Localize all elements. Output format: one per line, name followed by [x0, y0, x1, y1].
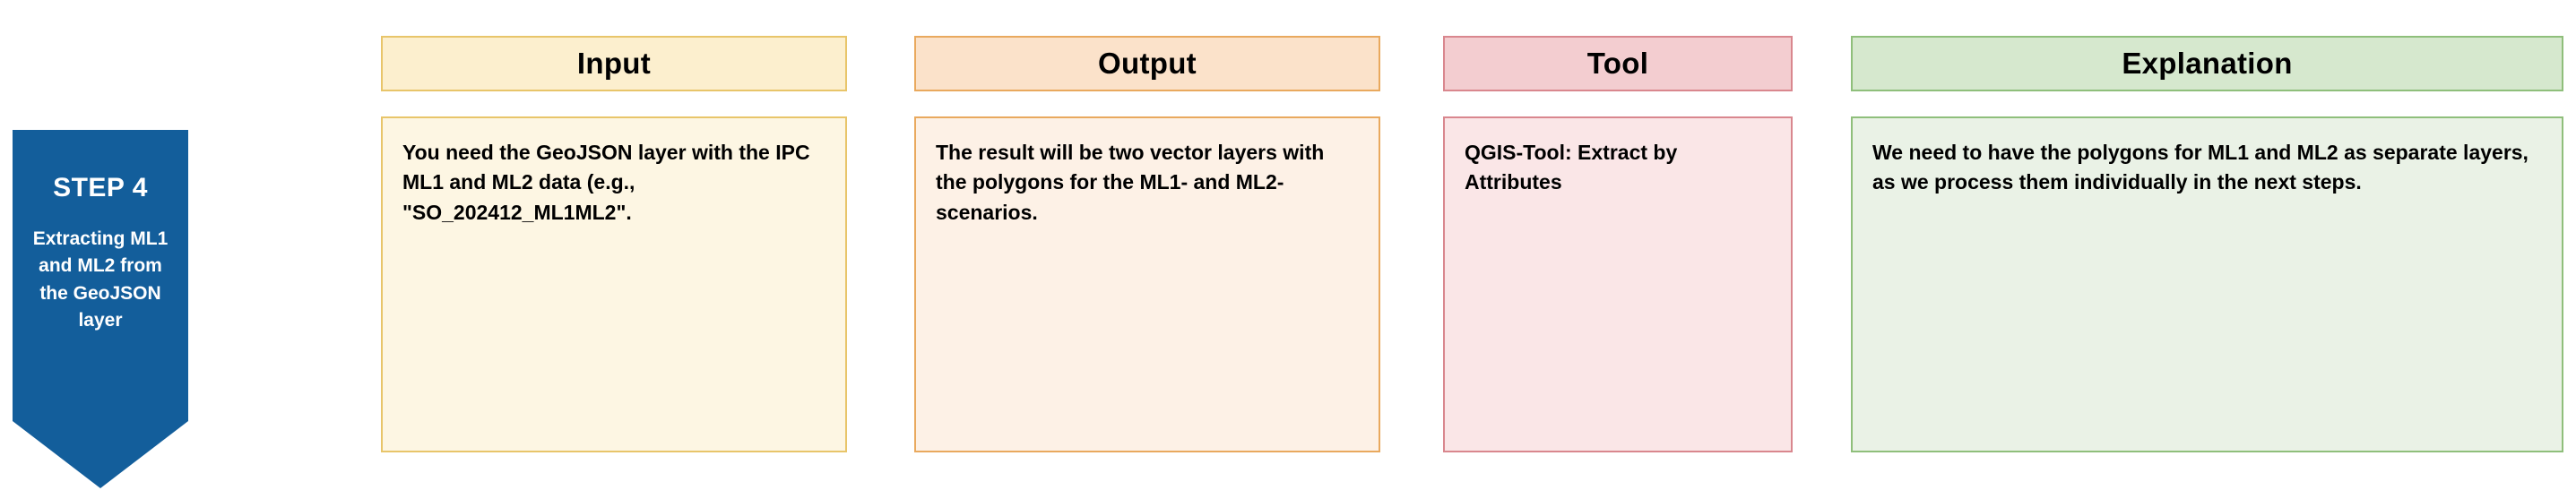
column-body-text-explanation: We need to have the polygons for ML1 and…: [1872, 138, 2542, 198]
step-description: Extracting ML1 and ML2 from the GeoJSON …: [23, 226, 177, 335]
step-arrow-shape: STEP 4 Extracting ML1 and ML2 from the G…: [13, 130, 188, 488]
step-number-title: STEP 4: [53, 173, 148, 202]
column-body-tool: QGIS-Tool: Extract by Attributes: [1443, 116, 1793, 452]
column-output: Output The result will be two vector lay…: [914, 0, 1380, 499]
column-body-explanation: We need to have the polygons for ML1 and…: [1851, 116, 2563, 452]
column-header-label-tool: Tool: [1587, 47, 1648, 81]
column-body-text-tool: QGIS-Tool: Extract by Attributes: [1465, 138, 1771, 198]
column-header-label-output: Output: [1098, 47, 1197, 81]
column-header-tool: Tool: [1443, 36, 1793, 91]
column-body-text-input: You need the GeoJSON layer with the IPC …: [402, 138, 826, 228]
column-body-input: You need the GeoJSON layer with the IPC …: [381, 116, 847, 452]
column-header-label-input: Input: [577, 47, 651, 81]
column-header-output: Output: [914, 36, 1380, 91]
column-input: Input You need the GeoJSON layer with th…: [381, 0, 847, 499]
column-body-output: The result will be two vector layers wit…: [914, 116, 1380, 452]
column-body-text-output: The result will be two vector layers wit…: [936, 138, 1359, 228]
column-explanation: Explanation We need to have the polygons…: [1851, 0, 2563, 499]
column-header-explanation: Explanation: [1851, 36, 2563, 91]
column-tool: Tool QGIS-Tool: Extract by Attributes: [1443, 0, 1793, 499]
column-header-label-explanation: Explanation: [2122, 47, 2292, 81]
column-header-input: Input: [381, 36, 847, 91]
workflow-step-row: STEP 4 Extracting ML1 and ML2 from the G…: [0, 0, 2576, 499]
